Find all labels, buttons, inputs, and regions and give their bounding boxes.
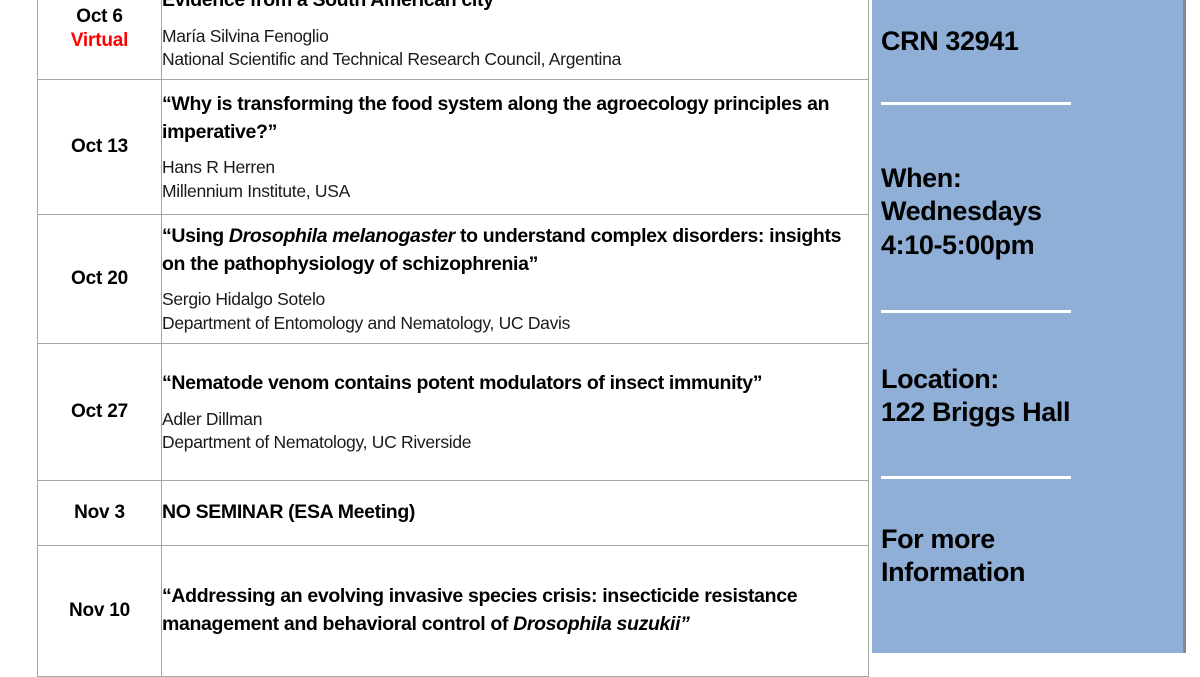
location-label: Location: <box>881 363 1183 396</box>
info-sidebar: CRN 32941 When: Wednesdays 4:10-5:00pm L… <box>872 0 1186 653</box>
talk-title: “Nematode venom contains potent modulato… <box>162 370 868 398</box>
schedule-date: Nov 10 <box>69 600 130 621</box>
location-value: 122 Briggs Hall <box>881 396 1183 429</box>
more-info-line-1: For more <box>881 523 1183 556</box>
talk-title: “Addressing an evolving invasive species… <box>162 583 868 638</box>
speaker-name: Sergio Hidalgo Sotelo <box>162 288 868 311</box>
virtual-badge: Virtual <box>38 29 161 53</box>
when-day: Wednesdays <box>881 195 1183 228</box>
table-row: Oct 13 “Why is transforming the food sys… <box>38 80 869 215</box>
schedule-info-cell: “Addressing an evolving invasive species… <box>162 546 869 677</box>
schedule-date-cell: Nov 10 <box>38 546 162 677</box>
table-row: Oct 27 “Nematode venom contains potent m… <box>38 344 869 481</box>
table-row: Nov 10 “Addressing an evolving invasive … <box>38 546 869 677</box>
schedule-date: Oct 20 <box>71 268 128 289</box>
talk-title: “Using Drosophila melanogaster to unders… <box>162 223 868 278</box>
seminar-schedule-table: Oct 6 Virtual Evidence from a South Amer… <box>37 0 869 677</box>
schedule-info-cell: “Nematode venom contains potent modulato… <box>162 344 869 481</box>
talk-title-text: “Nematode venom contains potent modulato… <box>162 372 762 394</box>
talk-title-text: “Why is transforming the food system alo… <box>162 93 829 143</box>
when-block: When: Wednesdays 4:10-5:00pm <box>881 105 1183 262</box>
schedule-table: Oct 6 Virtual Evidence from a South Amer… <box>37 0 869 677</box>
schedule-date-cell: Nov 3 <box>38 481 162 546</box>
talk-title: NO SEMINAR (ESA Meeting) <box>162 499 868 527</box>
schedule-info-cell: NO SEMINAR (ESA Meeting) <box>162 481 869 546</box>
talk-title: “Why is transforming the food system alo… <box>162 91 868 146</box>
schedule-date-cell: Oct 20 <box>38 215 162 344</box>
talk-title: Evidence from a South American city” <box>162 0 868 15</box>
more-info-line-2: Information <box>881 556 1183 589</box>
schedule-info-cell: “Using Drosophila melanogaster to unders… <box>162 215 869 344</box>
when-time: 4:10-5:00pm <box>881 229 1183 262</box>
schedule-date: Oct 6 <box>76 6 123 27</box>
talk-title-species: Drosophila melanogaster <box>229 225 455 247</box>
more-info-block: For more Information <box>881 479 1183 589</box>
schedule-date-cell: Oct 6 Virtual <box>38 0 162 80</box>
schedule-info-cell: Evidence from a South American city” Mar… <box>162 0 869 80</box>
table-row: Nov 3 NO SEMINAR (ESA Meeting) <box>38 481 869 546</box>
talk-title-species: Drosophila suzukii” <box>513 613 689 635</box>
talk-title-text: NO SEMINAR (ESA Meeting) <box>162 501 415 523</box>
schedule-info-cell: “Why is transforming the food system alo… <box>162 80 869 215</box>
crn-block: CRN 32941 <box>881 0 1183 58</box>
crn-value: CRN 32941 <box>881 25 1183 58</box>
schedule-date: Oct 13 <box>71 136 128 157</box>
talk-title-prefix: “Using <box>162 225 229 247</box>
table-row: Oct 6 Virtual Evidence from a South Amer… <box>38 0 869 80</box>
when-label: When: <box>881 162 1183 195</box>
speaker-name: Adler Dillman <box>162 408 868 431</box>
schedule-date-cell: Oct 13 <box>38 80 162 215</box>
schedule-date: Oct 27 <box>71 401 128 422</box>
flyer-page: Oct 6 Virtual Evidence from a South Amer… <box>0 0 1200 630</box>
schedule-date: Nov 3 <box>74 502 125 523</box>
speaker-affiliation: National Scientific and Technical Resear… <box>162 48 868 71</box>
speaker-affiliation: Department of Nematology, UC Riverside <box>162 431 868 454</box>
location-block: Location: 122 Briggs Hall <box>881 313 1183 429</box>
speaker-affiliation: Department of Entomology and Nematology,… <box>162 312 868 335</box>
speaker-name: Hans R Herren <box>162 156 868 179</box>
schedule-date-cell: Oct 27 <box>38 344 162 481</box>
table-row: Oct 20 “Using Drosophila melanogaster to… <box>38 215 869 344</box>
speaker-name: María Silvina Fenoglio <box>162 25 868 48</box>
talk-title-text: Evidence from a South American city” <box>162 0 503 11</box>
speaker-affiliation: Millennium Institute, USA <box>162 180 868 203</box>
talk-title-prefix: “Addressing an evolving invasive species… <box>162 585 797 635</box>
